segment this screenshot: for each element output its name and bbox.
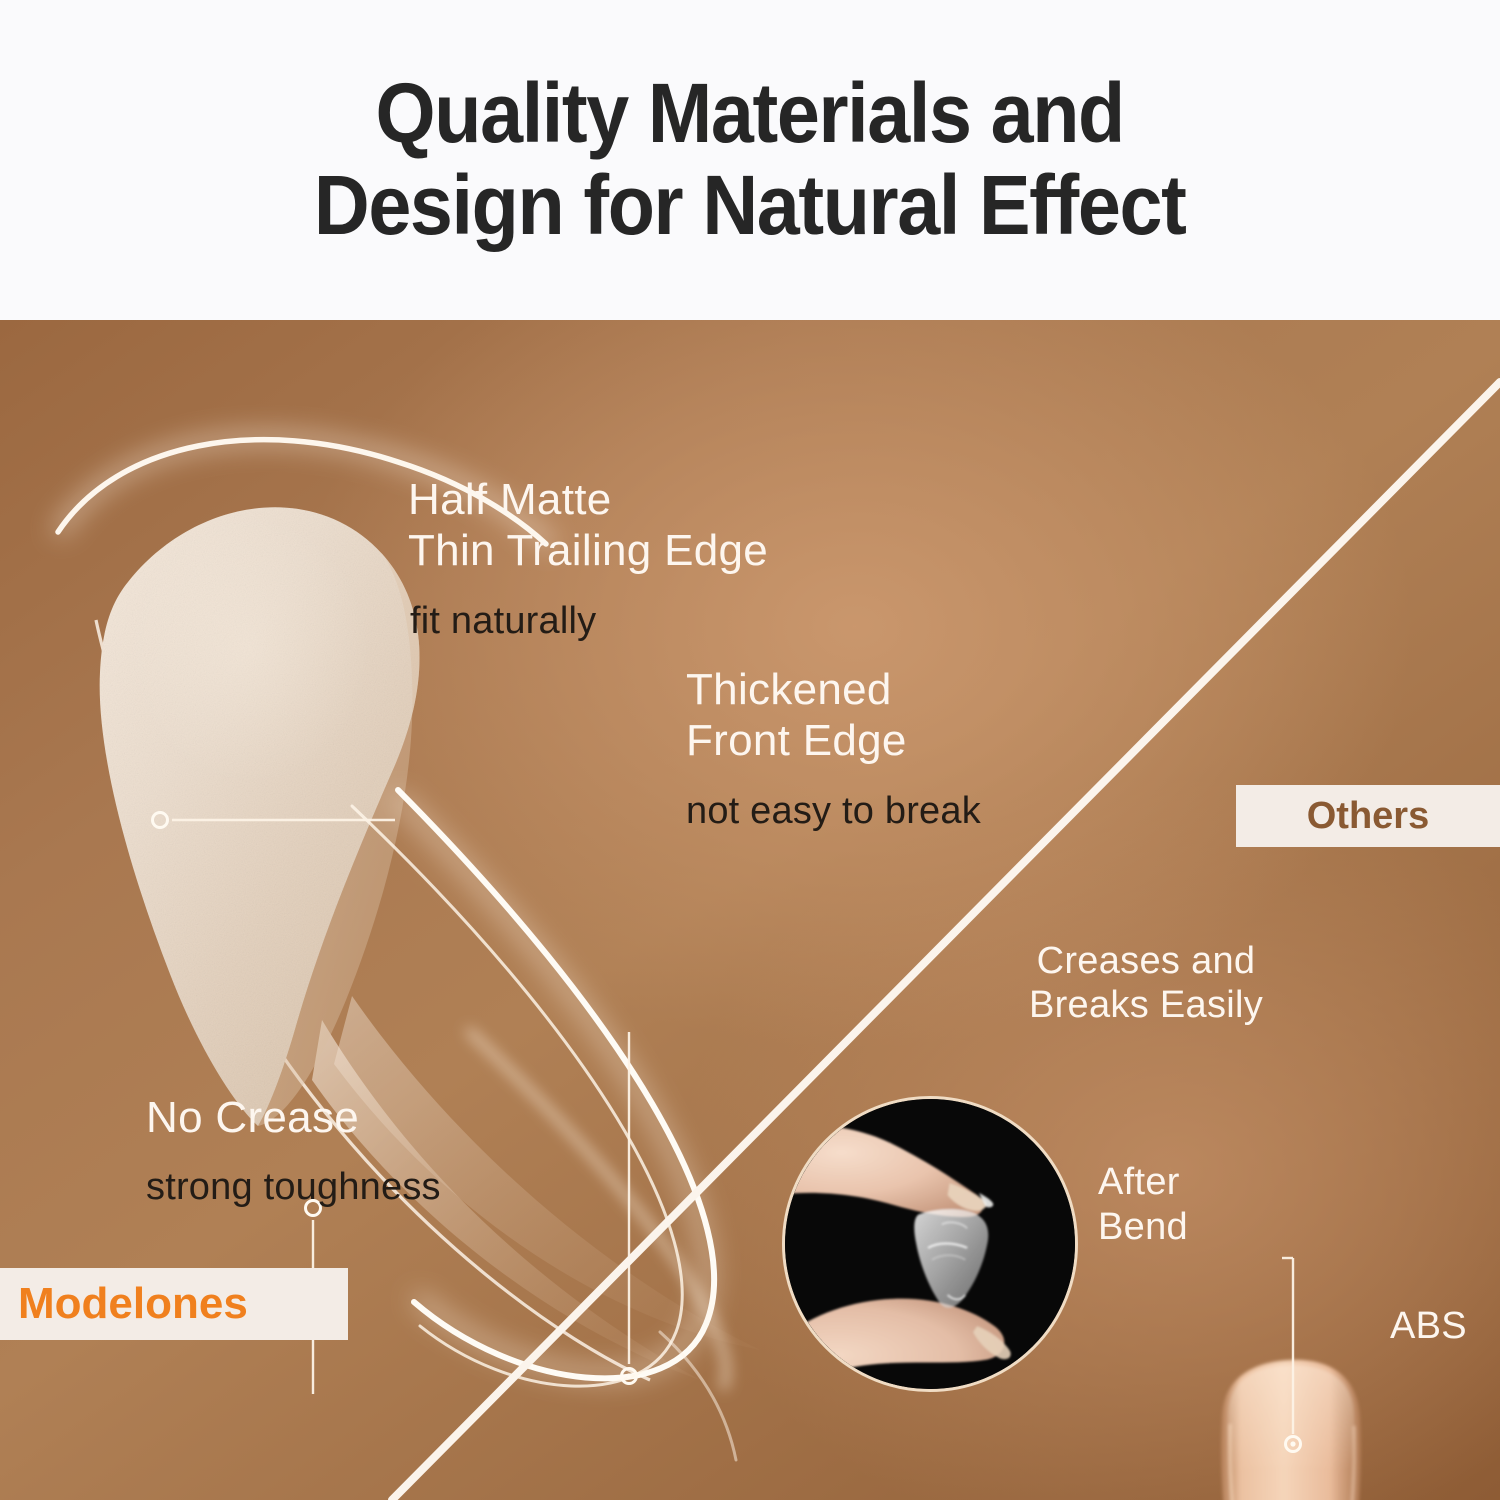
callout-creases-breaks-easily-title: Creases and Breaks Easily: [1010, 940, 1282, 1027]
bend-demo-photo: [782, 1096, 1078, 1392]
fingers-bending-nail-image: [785, 1099, 1075, 1389]
callout-half-matte: Half Matte Thin Trailing Edge fit natura…: [408, 474, 768, 645]
callout-after-bend: After Bend: [1098, 1160, 1188, 1250]
callout-abs: ABS: [1390, 1304, 1467, 1348]
connector-half-matte: [153, 813, 396, 828]
callout-no-crease-subtitle: strong toughness: [146, 1165, 441, 1211]
callout-thickened-front-edge-title: Thickened Front Edge: [686, 664, 981, 767]
infographic-root: Quality Materials and Design for Natural…: [0, 0, 1500, 1500]
connector-thickened-edge: [622, 1032, 637, 1384]
callout-half-matte-subtitle: fit naturally: [410, 599, 768, 645]
callout-no-crease: No Crease strong toughness: [146, 1092, 441, 1211]
page-title-line-1: Quality Materials and: [376, 71, 1124, 157]
callout-thickened-front-edge: Thickened Front Edge not easy to break: [686, 664, 981, 835]
badge-others: Others: [1236, 785, 1500, 847]
callout-no-crease-title: No Crease: [146, 1092, 441, 1143]
page-title-line-2: Design for Natural Effect: [314, 163, 1186, 249]
header-banner: Quality Materials and Design for Natural…: [0, 0, 1500, 320]
callout-half-matte-title: Half Matte Thin Trailing Edge: [408, 474, 768, 577]
callout-abs-title: ABS: [1390, 1304, 1467, 1348]
callout-thickened-front-edge-subtitle: not easy to break: [686, 789, 981, 835]
callout-creases-breaks-easily: Creases and Breaks Easily: [1010, 940, 1282, 1027]
connector-creases-breaks: [1282, 1258, 1301, 1452]
callout-after-bend-title: After Bend: [1098, 1160, 1188, 1250]
badge-modelones: Modelones: [0, 1268, 348, 1340]
